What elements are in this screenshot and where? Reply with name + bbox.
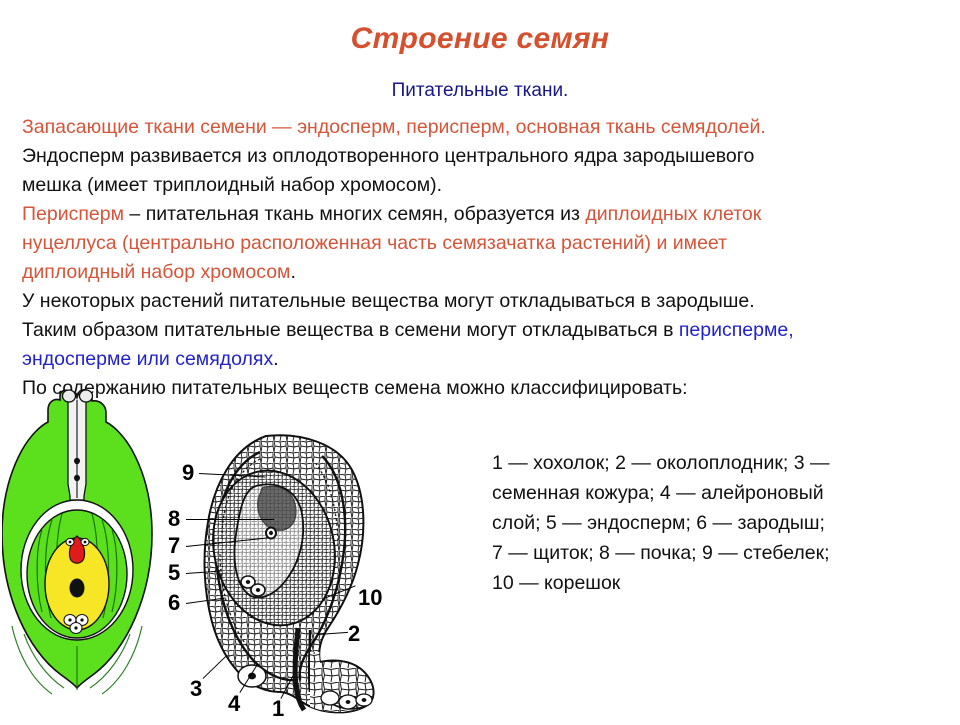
text-run-embryo-sac: мешка (имеет триплоидный набор хромосом)… [22, 174, 442, 196]
text-run-period-9: . [273, 348, 278, 370]
callout-label-6: 6 [168, 592, 180, 614]
text-run-nucellus: нуцеллуса (центрально расположенная част… [22, 232, 727, 254]
central-nucleus [70, 579, 85, 598]
page-subtitle: Питательные ткани. [0, 80, 960, 102]
text-run-thus-nutrients: Таким образом питательные вещества в сем… [22, 319, 679, 341]
text-line-5: нуцеллуса (центрально расположенная част… [22, 229, 947, 258]
ovule-diagram-illustration [2, 388, 172, 718]
text-line-2: Эндосперм развивается из оплодотворенног… [22, 142, 947, 171]
text-run-perisperm-def: – питательная ткань многих семян, образу… [124, 203, 585, 225]
ovule-svg [2, 388, 172, 718]
text-run-storage-tissues: Запасающие ткани семени — эндосперм, пер… [22, 116, 766, 138]
text-line-8: Таким образом питательные вещества в сем… [22, 316, 947, 345]
legend-line-3: слой; 5 — эндосперм; 6 — зародыш; [492, 508, 892, 538]
text-line-1: Запасающие ткани семени — эндосперм, пер… [22, 113, 947, 142]
text-run-perisperm-term: Перисперм [22, 203, 124, 225]
callout-label-10: 10 [358, 587, 382, 609]
left-basal-lobe [238, 665, 266, 687]
callout-label-3: 3 [190, 678, 202, 700]
legend-line-1: 1 — хохолок; 2 — околоплодник; 3 — [492, 448, 892, 478]
text-line-9: эндосперме или семядолях. [22, 345, 947, 374]
text-line-7: У некоторых растений питательные веществ… [22, 287, 947, 316]
text-run-diploid-cells: диплоидных клеток [585, 203, 761, 225]
text-run-some-plants: У некоторых растений питательные веществ… [22, 290, 755, 312]
style-channel [68, 394, 86, 500]
text-run-endosperm-dev: Эндосперм развивается из оплодотворенног… [22, 145, 754, 167]
legend-line-5: 10 — корешок [492, 568, 892, 598]
text-run-period-6: . [290, 261, 295, 283]
callout-label-7: 7 [168, 535, 180, 557]
body-text-block: Запасающие ткани семени — эндосперм, пер… [22, 113, 947, 403]
text-line-6: диплоидный набор хромосом. [22, 258, 947, 287]
callout-label-8: 8 [168, 508, 180, 530]
callout-label-1: 1 [272, 698, 284, 720]
text-line-3: мешка (имеет триплоидный набор хромосом)… [22, 171, 947, 200]
callout-label-4: 4 [228, 693, 240, 715]
callout-label-2: 2 [348, 623, 360, 645]
leader-line-8 [186, 519, 274, 520]
callout-label-9: 9 [182, 462, 194, 484]
callout-label-5: 5 [168, 562, 180, 584]
text-run-perisperme-blue: перисперме, [679, 319, 794, 341]
text-run-diploid-set: диплоидный набор хромосом [22, 261, 290, 283]
text-line-4: Перисперм – питательная ткань многих сем… [22, 200, 947, 229]
text-run-endosperme-blue: эндосперме или семядолях [22, 348, 273, 370]
figure-legend: 1 — хохолок; 2 — околоплодник; 3 — семен… [492, 448, 892, 598]
legend-line-2: семенная кожура; 4 — алейроновый [492, 478, 892, 508]
page-title: Строение семян [0, 22, 960, 56]
legend-line-4: 7 — щиток; 8 — почка; 9 — стебелек; [492, 538, 892, 568]
